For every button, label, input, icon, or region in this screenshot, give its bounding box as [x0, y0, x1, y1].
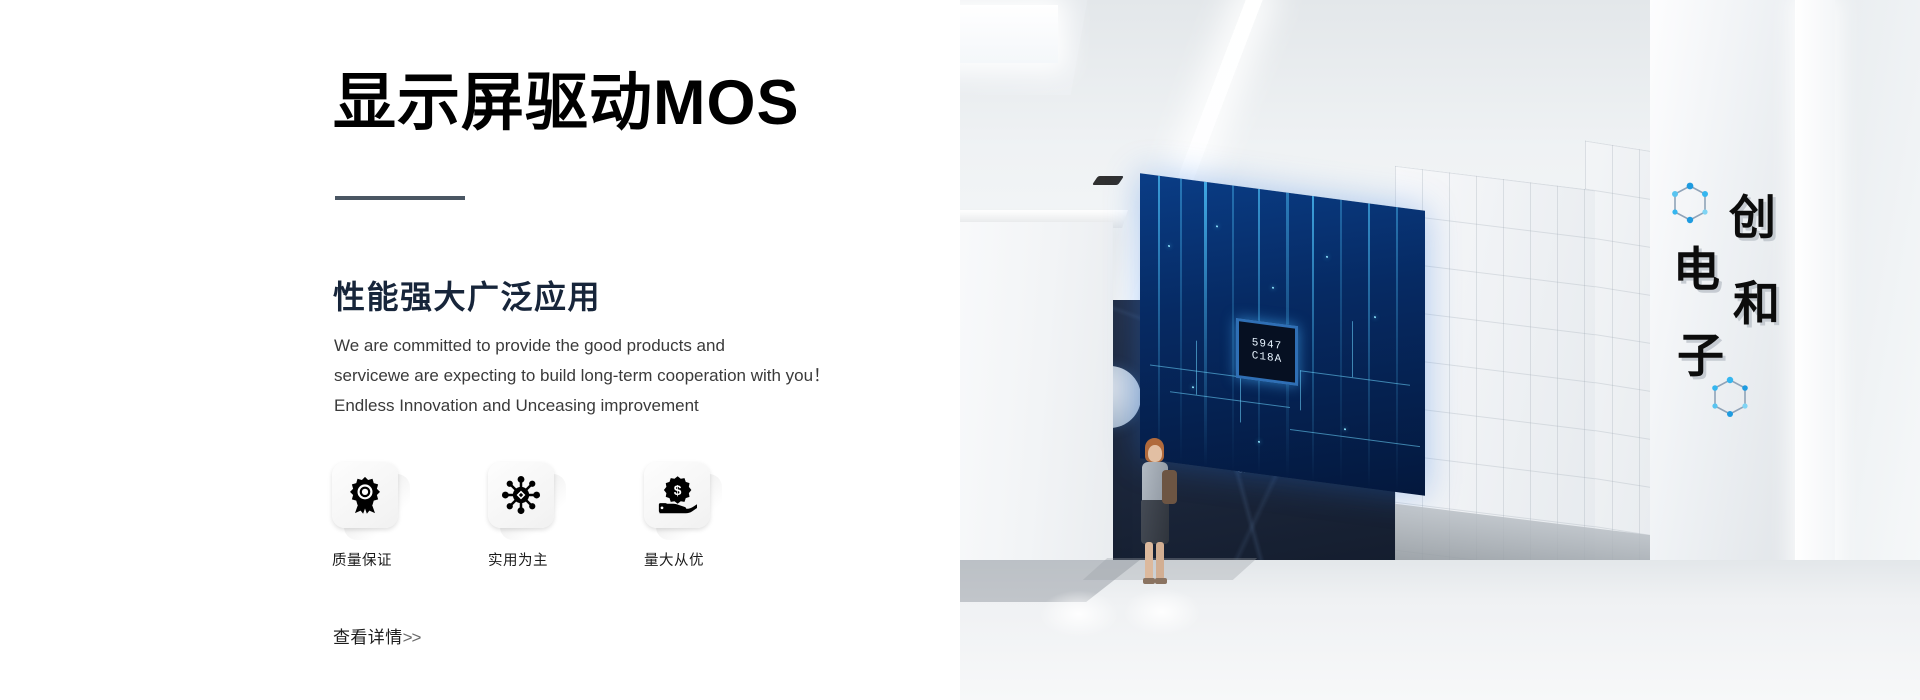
subtitle: 性能强大广泛应用 [333, 272, 601, 318]
text-panel: 显示屏驱动MOS 性能强大广泛应用 We are committed to pr… [0, 0, 960, 700]
molecule-hexagon-icon [1667, 180, 1713, 232]
feature-item-bulk-discount[interactable]: $ 量大从优 [644, 462, 740, 570]
svg-text:$: $ [674, 483, 682, 498]
woman-leg [1145, 542, 1153, 580]
woman-head [1148, 445, 1162, 462]
woman-shoe [1155, 578, 1167, 584]
wall-sign-char-dian: 电 [1673, 246, 1720, 293]
hero-banner: 显示屏驱动MOS 性能强大广泛应用 We are committed to pr… [0, 0, 1920, 700]
view-detail-text: 查看详情 [333, 628, 403, 647]
view-detail-link[interactable]: 查看详情>> [333, 623, 420, 648]
view-detail-arrows: >> [403, 628, 421, 647]
description-line-2: servicewe are expecting to build long-te… [334, 361, 874, 391]
wall-sign-char-zi: 子 [1677, 332, 1724, 379]
award-medal-icon [345, 475, 385, 515]
feature-label: 实用为主 [488, 549, 584, 570]
description-line-1: We are committed to provide the good pro… [334, 331, 874, 361]
feature-item-quality[interactable]: 质量保证 [332, 462, 428, 570]
description-paragraph: We are committed to provide the good pro… [334, 331, 874, 421]
led-chip-label: 5947 C18A [1236, 318, 1298, 386]
chip-label-line-2: C18A [1252, 350, 1282, 367]
woman-skirt [1141, 500, 1169, 544]
wall-sign-char-chuang: 创 [1729, 194, 1776, 241]
feature-label: 量大从优 [644, 549, 740, 570]
network-hub-icon [501, 475, 541, 515]
title-divider [335, 196, 465, 200]
feature-badge[interactable]: $ [644, 462, 710, 528]
feature-item-practical[interactable]: 实用为主 [488, 462, 584, 570]
led-display-screen: 5947 C18A [1140, 173, 1425, 496]
wall-sign-char-he: 和 [1733, 280, 1780, 327]
woman-shoe [1143, 578, 1155, 584]
floor-reflection [1123, 588, 1201, 636]
feature-list: 质量保证 [332, 462, 740, 570]
company-wall-sign: 创 和 电 子 [1655, 188, 1795, 418]
feature-label: 质量保证 [332, 549, 428, 570]
page-title: 显示屏驱动MOS [333, 68, 800, 139]
person-woman-walking [1131, 440, 1177, 590]
floor-reflection [1039, 590, 1119, 638]
woman-leg [1156, 542, 1164, 580]
feature-badge[interactable] [332, 462, 398, 528]
feature-badge[interactable] [488, 462, 554, 528]
woman-handbag [1162, 470, 1177, 504]
description-line-3: Endless Innovation and Unceasing improve… [334, 391, 874, 421]
hand-money-icon: $ [657, 475, 697, 515]
showroom-photo: 科技 创新 ORIENTED TO GLOBAL 芯片封装测试中心 产业基地 全… [795, 0, 1920, 700]
